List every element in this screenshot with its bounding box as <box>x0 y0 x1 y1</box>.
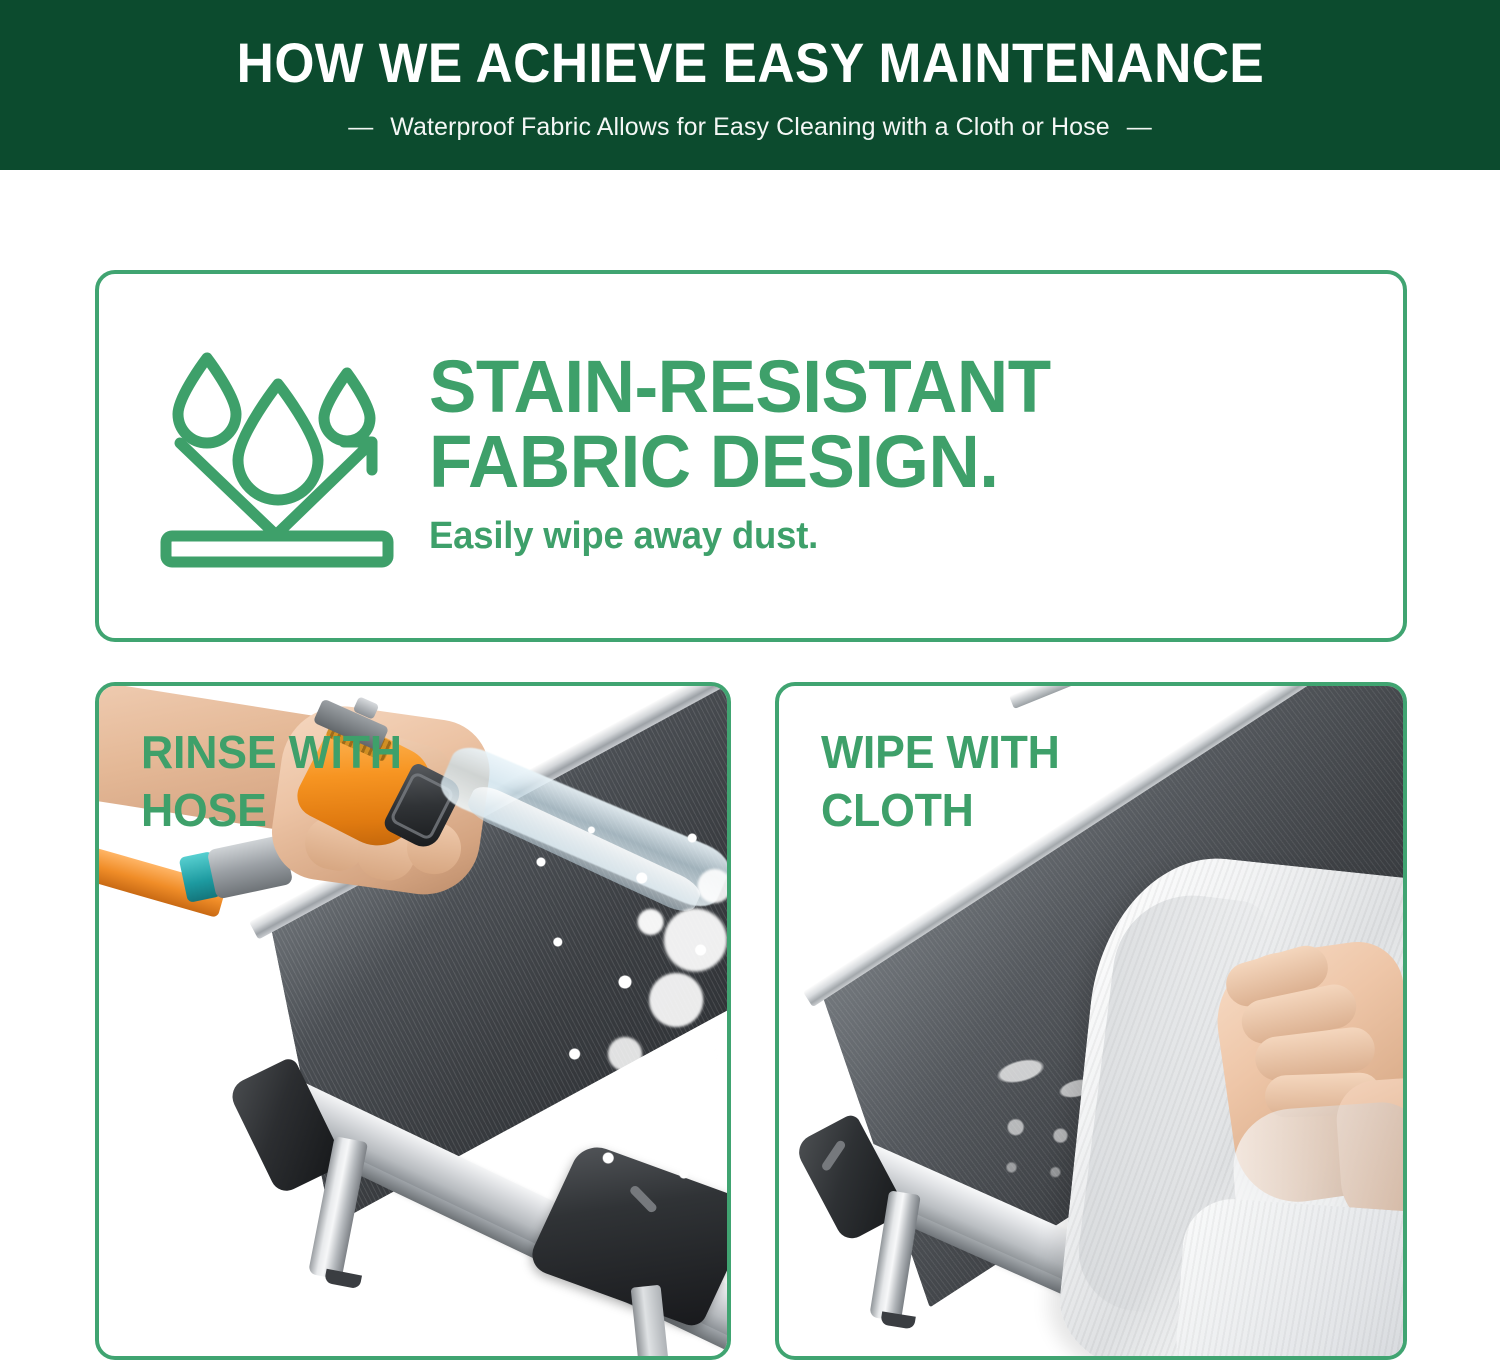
header-subtitle: Waterproof Fabric Allows for Easy Cleani… <box>390 113 1110 142</box>
corner-cap-slot <box>820 1139 846 1172</box>
cloth-wiping-pet-cot-photo <box>779 686 1403 1356</box>
water-droplets <box>499 806 727 1206</box>
feature-headline-line1: STAIN-RESISTANT <box>429 349 1335 424</box>
cloth-hanging-tail <box>1172 1196 1403 1356</box>
dash-left-icon: — <box>348 115 373 140</box>
feature-subtext: Easily wipe away dust. <box>429 516 1335 558</box>
feature-card-stain-resistant: STAIN-RESISTANT FABRIC DESIGN. Easily wi… <box>95 270 1407 642</box>
dash-right-icon: — <box>1127 115 1152 140</box>
method-card-wipe-with-cloth: WIPE WITH CLOTH <box>775 682 1407 1360</box>
leg-foot-left <box>880 1311 916 1329</box>
method-card-rinse-with-hose: RINSE WITH HOSE <box>95 682 731 1360</box>
page-title: HOW WE ACHIEVE EASY MAINTENANCE <box>236 35 1264 91</box>
header-subtitle-row: — Waterproof Fabric Allows for Easy Clea… <box>348 113 1152 142</box>
feature-icon-slot <box>99 274 429 638</box>
infographic-page: HOW WE ACHIEVE EASY MAINTENANCE — Waterp… <box>0 0 1500 1366</box>
leg-foot-left <box>324 1269 362 1290</box>
header-banner: HOW WE ACHIEVE EASY MAINTENANCE — Waterp… <box>0 0 1500 170</box>
hose-rinsing-pet-cot-photo <box>99 686 727 1356</box>
feature-text-block: STAIN-RESISTANT FABRIC DESIGN. Easily wi… <box>429 349 1403 564</box>
water-repellent-icon <box>152 340 404 572</box>
feature-headline-line2: FABRIC DESIGN. <box>429 424 1335 499</box>
